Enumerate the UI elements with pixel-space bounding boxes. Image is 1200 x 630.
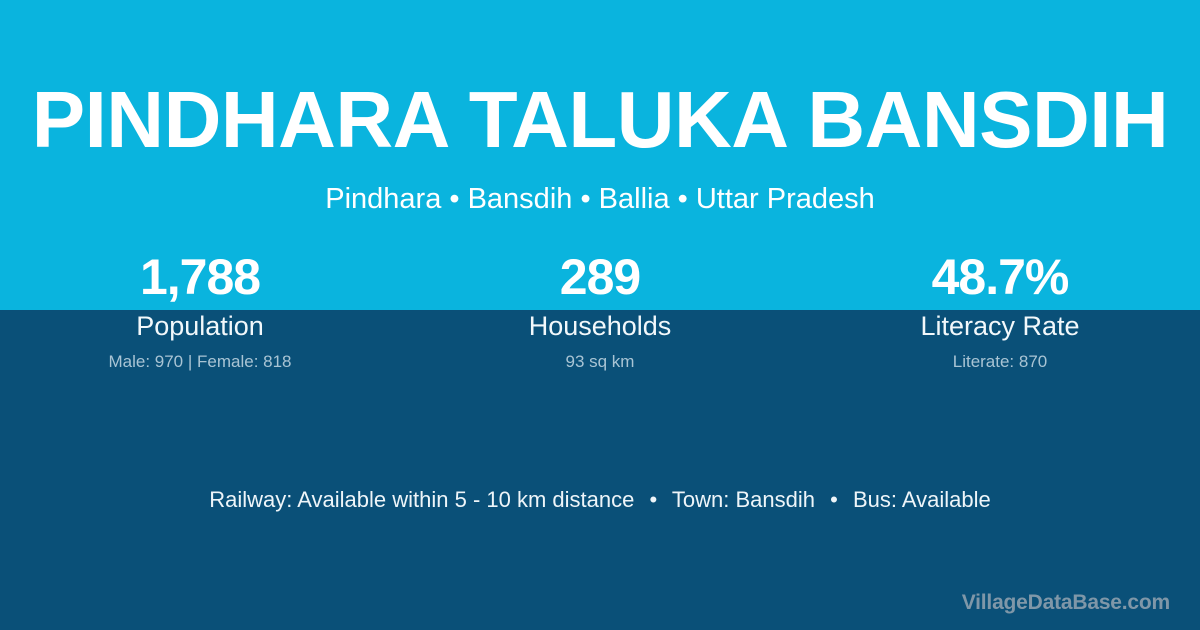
info-railway: Railway: Available within 5 - 10 km dist… [209,487,634,512]
info-town: Town: Bansdih [672,487,815,512]
site-watermark: VillageDataBase.com [962,590,1170,616]
stat-label-population: Population [0,310,400,342]
village-info-card: PINDHARA TALUKA BANSDIH Pindhara • Bansd… [0,0,1200,630]
stat-value-households: 289 [400,246,800,308]
info-separator-1: • [640,486,666,514]
breadcrumb: Pindhara • Bansdih • Ballia • Uttar Prad… [0,182,1200,216]
stat-sub-households: 93 sq km [400,351,800,372]
stat-sub-population: Male: 970 | Female: 818 [0,351,400,372]
stat-sub-literacy-rate: Literate: 870 [800,351,1200,372]
stat-literacy-rate: 48.7% Literacy Rate Literate: 870 [800,246,1200,372]
stat-label-households: Households [400,310,800,342]
info-bus: Bus: Available [853,487,991,512]
stat-households: 289 Households 93 sq km [400,246,800,372]
stat-population: 1,788 Population Male: 970 | Female: 818 [0,246,400,372]
amenities-info-line: Railway: Available within 5 - 10 km dist… [0,486,1200,514]
stat-label-literacy-rate: Literacy Rate [800,310,1200,342]
stats-row: 1,788 Population Male: 970 | Female: 818… [0,246,1200,372]
footer: VillageDataBase.com [962,590,1170,616]
info-separator-2: • [821,486,847,514]
stat-value-literacy-rate: 48.7% [800,246,1200,308]
stat-value-population: 1,788 [0,246,400,308]
page-title: PINDHARA TALUKA BANSDIH [0,78,1200,162]
